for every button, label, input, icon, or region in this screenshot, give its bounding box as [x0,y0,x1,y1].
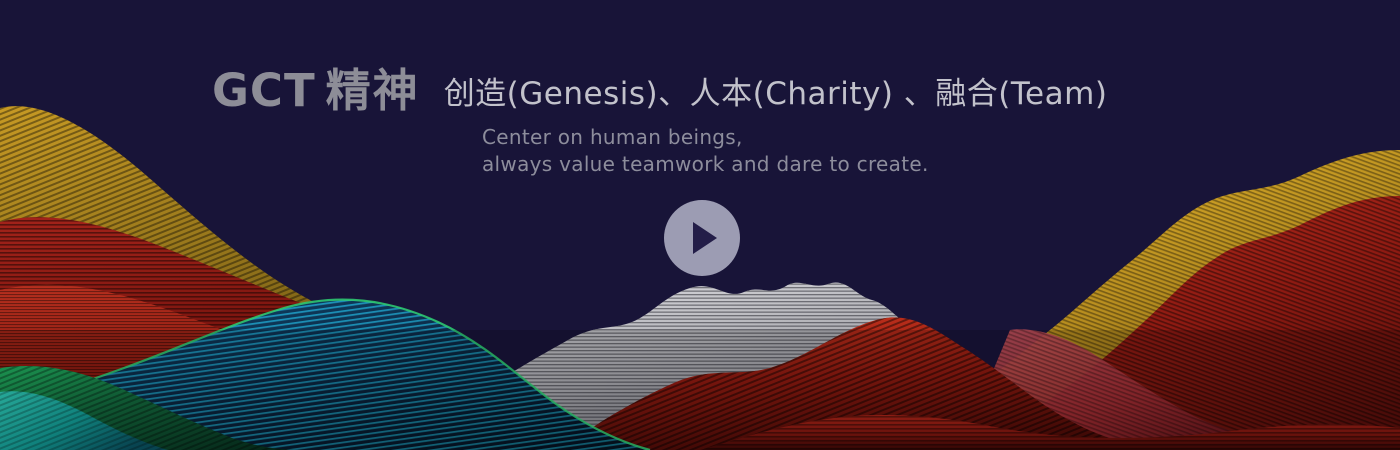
play-triangle-icon [693,222,717,254]
play-video-button[interactable] [664,200,740,276]
brand-logo-cn: 精神 [326,64,420,117]
brand-logotype: GCT精神 [212,68,420,113]
subtitle-line-1: Center on human beings, [482,124,929,151]
headline-row: GCT精神 创造(Genesis)、人本(Charity) 、融合(Team) [212,68,1107,113]
banner-content: GCT精神 创造(Genesis)、人本(Charity) 、融合(Team) … [0,0,1400,450]
hero-banner: GCT精神 创造(Genesis)、人本(Charity) 、融合(Team) … [0,0,1400,450]
brand-tagline: 创造(Genesis)、人本(Charity) 、融合(Team) [444,79,1108,110]
brand-subtitle: Center on human beings, always value tea… [482,124,929,178]
subtitle-line-2: always value teamwork and dare to create… [482,151,929,178]
brand-logo-latin: GCT [212,64,316,117]
